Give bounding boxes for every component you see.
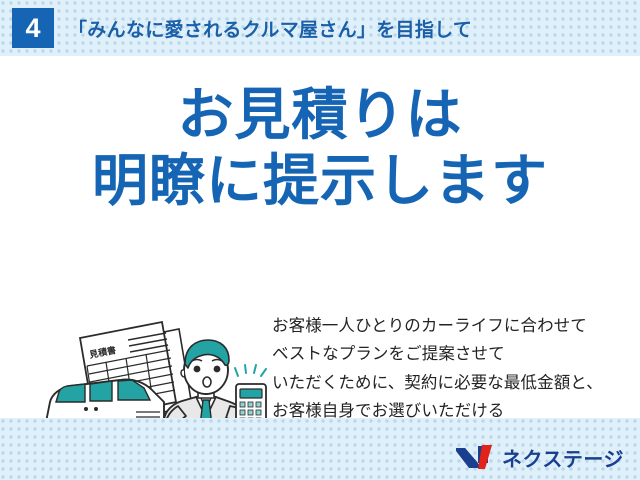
- headline: お見積りは 明瞭に提示します: [0, 82, 640, 214]
- header-title: 「みんなに愛されるクルマ屋さん」を目指して: [68, 15, 472, 42]
- brand-name: ネクステージ: [502, 443, 624, 472]
- content-panel: お見積りは 明瞭に提示します お客様一人ひとりのカーライフに合わせて ベストなプ…: [0, 56, 640, 418]
- header: 4 「みんなに愛されるクルマ屋さん」を目指して: [0, 0, 640, 56]
- body-copy-line-1: お客様一人ひとりのカーライフに合わせて: [272, 312, 640, 340]
- sparkle-icon: [235, 365, 266, 376]
- body-copy-line-3: いただくために、契約に必要な最低金額と、: [272, 369, 640, 397]
- promo-banner: 4 「みんなに愛されるクルマ屋さん」を目指して お見積りは 明瞭に提示します お…: [0, 0, 640, 480]
- body-copy-line-2: ベストなプランをご提案させて: [272, 340, 640, 368]
- step-number-badge: 4: [12, 8, 54, 48]
- headline-line-2: 明瞭に提示します: [0, 148, 640, 214]
- brand-logo: ネクステージ: [454, 440, 624, 474]
- nextage-n-logo-icon: [454, 443, 494, 471]
- headline-line-1: お見積りは: [0, 82, 640, 148]
